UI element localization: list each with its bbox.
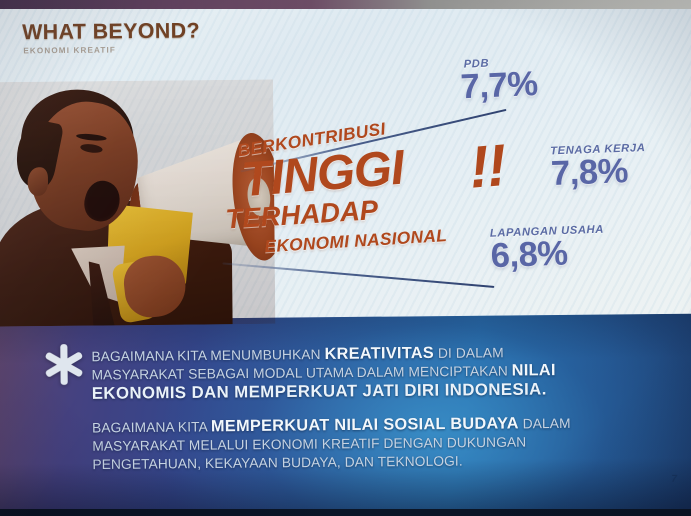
- paragraph-1: BAGAIMANA KITA MENUMBUHKAN KREATIVITAS D…: [91, 343, 662, 403]
- p1-l1-c: DI DALAM: [434, 345, 504, 361]
- paragraph-2: BAGAIMANA KITA MEMPERKUAT NILAI SOSIAL B…: [92, 414, 663, 474]
- slide-deck: WHAT BEYOND? EKONOMI KREATIF: [0, 0, 691, 516]
- stat-lapangan-usaha: LAPANGAN USAHA 6,8%: [490, 223, 606, 272]
- projected-slide-photo: WHAT BEYOND? EKONOMI KREATIF: [0, 0, 691, 516]
- slide-upper-section: WHAT BEYOND? EKONOMI KREATIF: [0, 0, 691, 327]
- p1-keyword-nilai: NILAI: [512, 362, 556, 380]
- screen-bottom-edge: [0, 509, 691, 516]
- asterisk-icon: [41, 342, 86, 387]
- page-subtitle: EKONOMI KREATIF: [23, 45, 116, 55]
- bullet-text-block: BAGAIMANA KITA MENUMBUHKAN KREATIVITAS D…: [91, 343, 662, 491]
- p1-keyword-kreativitas: KREATIVITAS: [324, 345, 434, 363]
- photo-ear: [27, 167, 48, 196]
- stat-pdb-value: 7,7%: [460, 67, 538, 103]
- p1-l1-a: BAGAIMANA KITA MENUMBUHKAN: [91, 347, 324, 365]
- stat-tenaga-kerja-value: 7,8%: [550, 154, 646, 190]
- stat-lapangan-usaha-value: 6,8%: [490, 236, 605, 273]
- stat-pdb: PDB 7,7%: [459, 55, 538, 103]
- screen-top-edge: [0, 0, 691, 9]
- stat-tenaga-kerja: TENAGA KERJA 7,8%: [550, 142, 647, 190]
- p1-l2-a: MASYARAKAT SEBAGAI MODAL UTAMA DALAM MEN…: [92, 363, 512, 382]
- p2-l1-a: BAGAIMANA KITA: [92, 419, 211, 435]
- page-number: 7: [671, 474, 677, 485]
- headline-exclamation: !!: [467, 131, 508, 202]
- p2-l1-c: DALAM: [519, 416, 571, 432]
- p2-keyword-sosial-budaya: MEMPERKUAT NILAI SOSIAL BUDAYA: [211, 415, 519, 435]
- slide-lower-section: BAGAIMANA KITA MENUMBUHKAN KREATIVITAS D…: [0, 314, 691, 516]
- page-title: WHAT BEYOND?: [22, 19, 200, 45]
